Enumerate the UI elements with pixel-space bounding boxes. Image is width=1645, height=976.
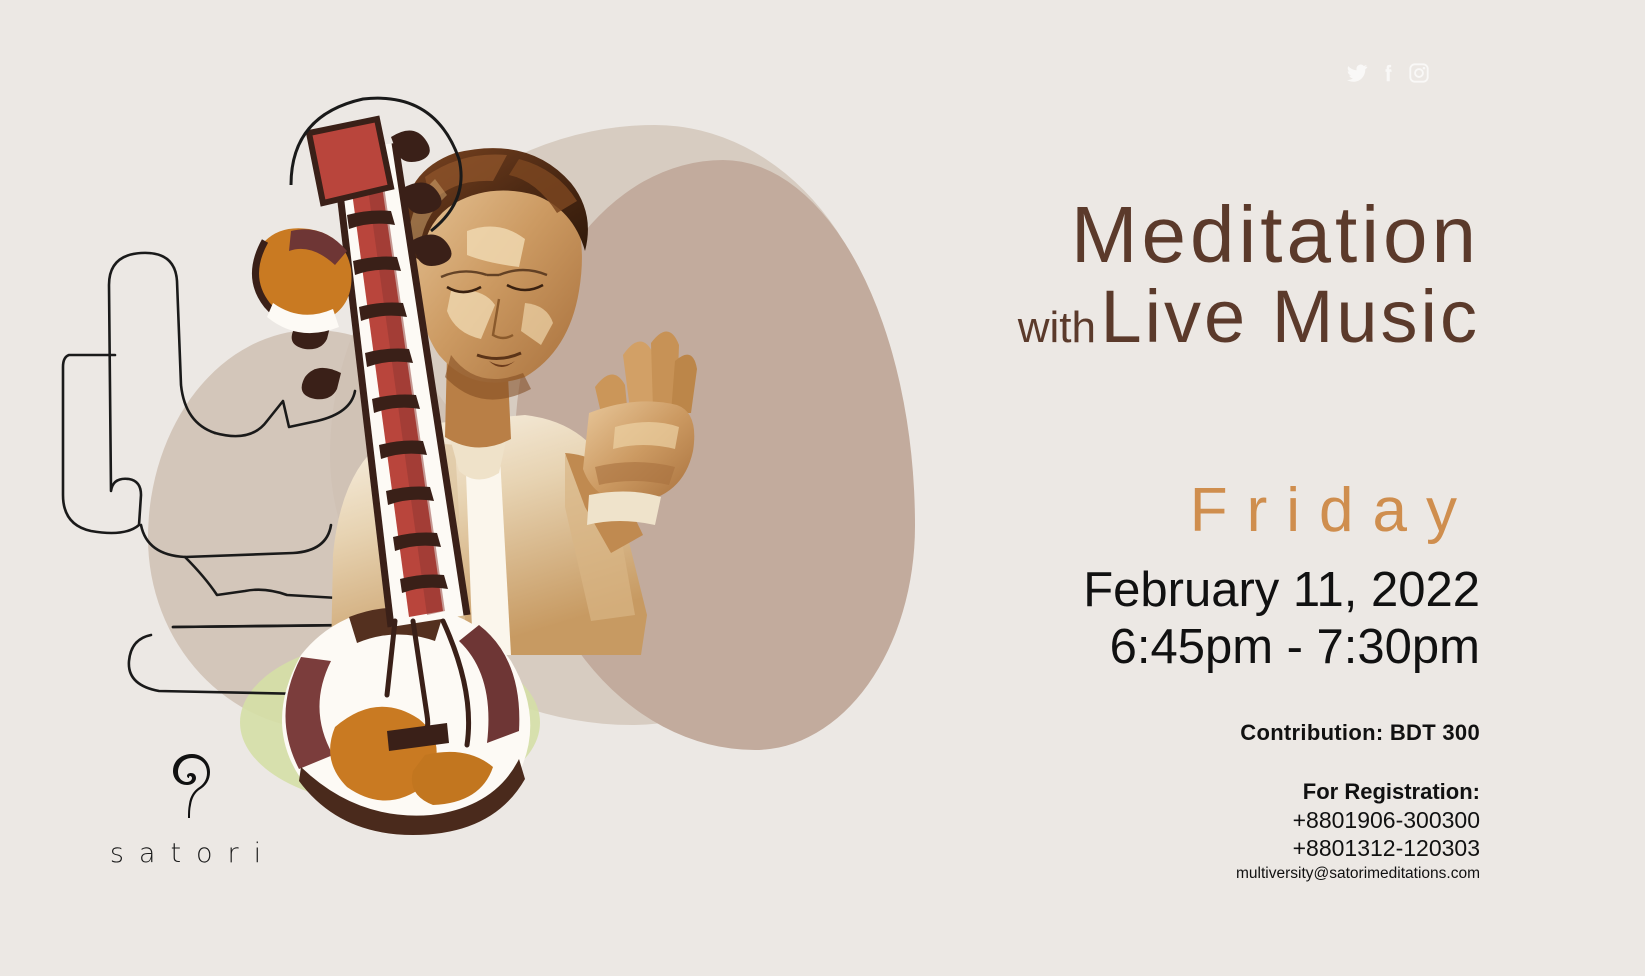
title-live-music: Live Music: [1100, 275, 1480, 358]
registration-block: For Registration: +8801906-300300 +88013…: [840, 778, 1480, 885]
satori-wordmark: satori: [88, 838, 298, 869]
event-info-column: Meditation with Live Music Friday Februa…: [840, 0, 1480, 976]
registration-phone-2[interactable]: +8801312-120303: [840, 834, 1480, 862]
poster-title: Meditation with Live Music: [840, 196, 1480, 354]
contribution-text: Contribution: BDT 300: [840, 720, 1480, 746]
event-date: February 11, 2022: [840, 562, 1480, 619]
satori-spiral-logo-icon: [168, 752, 216, 830]
title-line-1: Meditation: [840, 196, 1480, 274]
title-with-word: with: [1018, 303, 1096, 352]
poster-canvas: Meditation with Live Music Friday Februa…: [0, 0, 1645, 976]
event-time: 6:45pm - 7:30pm: [840, 619, 1480, 676]
event-datetime: February 11, 2022 6:45pm - 7:30pm: [840, 562, 1480, 676]
registration-email[interactable]: multiversity@satorimeditations.com: [840, 862, 1480, 885]
registration-phone-1[interactable]: +8801906-300300: [840, 806, 1480, 834]
musician-sitar-illustration: [95, 55, 735, 835]
title-line-2: with Live Music: [840, 280, 1480, 354]
event-day: Friday: [840, 480, 1480, 542]
registration-heading: For Registration:: [840, 778, 1480, 806]
